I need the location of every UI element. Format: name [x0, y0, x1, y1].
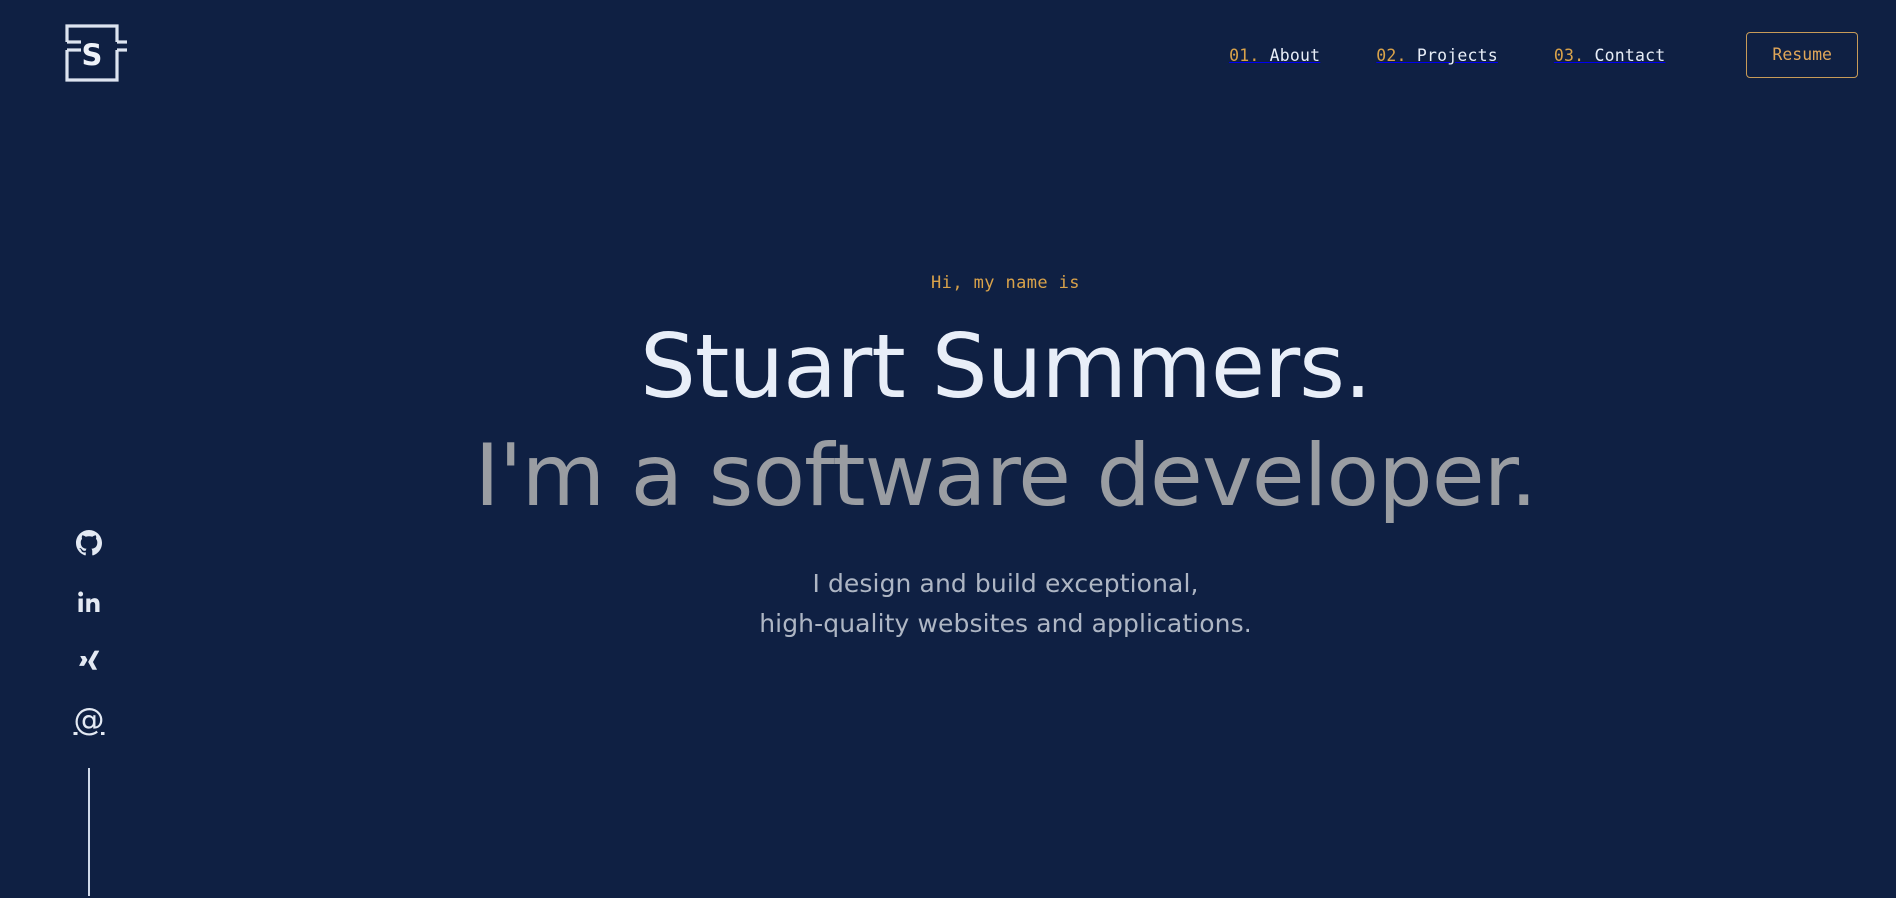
hero-name: Stuart Summers. [640, 320, 1371, 413]
hero-description-line-1: I design and build exceptional, [759, 564, 1252, 604]
hero-description-line-2: high-quality websites and applications. [759, 604, 1252, 644]
hero-description: I design and build exceptional, high-qua… [759, 564, 1252, 643]
page-root: S 01. About 02. Projects 03. Contact Res… [0, 0, 1896, 898]
hero-greeting: Hi, my name is [931, 273, 1080, 293]
hero-tagline: I'm a software developer. [475, 431, 1537, 522]
hero-section: Hi, my name is Stuart Summers. I'm a sof… [0, 0, 1896, 898]
